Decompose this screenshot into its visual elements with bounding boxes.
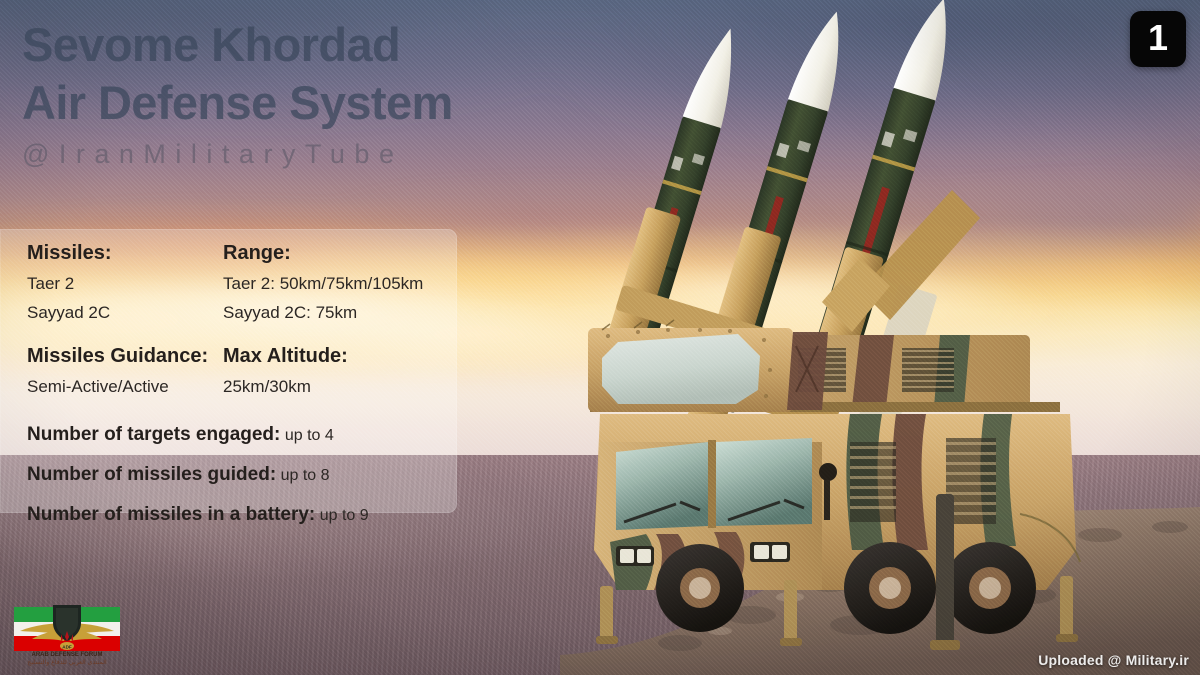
spec-value-targets-engaged: up to 4 bbox=[285, 427, 334, 444]
slide-number-badge: 1 bbox=[1130, 11, 1186, 67]
infographic-canvas: Sevome Khordad Air Defense System @IranM… bbox=[0, 0, 1200, 675]
mirror bbox=[819, 463, 837, 481]
spec-value-missiles-guided: up to 8 bbox=[281, 467, 330, 484]
spec-label-range: Range: bbox=[223, 238, 445, 269]
spec-row-missiles-guided: Number of missiles guided: up to 8 bbox=[27, 455, 445, 495]
spec-value-missile-2: Sayyad 2C bbox=[27, 298, 223, 327]
spec-value-missile-1: Taer 2 bbox=[27, 269, 223, 298]
spec-label-guidance: Missiles Guidance: bbox=[27, 341, 223, 372]
spec-value-range-2: Sayyad 2C: 75km bbox=[223, 298, 445, 327]
title-line-2: Air Defense System bbox=[22, 74, 453, 132]
spec-label-max-altitude: Max Altitude: bbox=[223, 341, 445, 372]
upload-watermark: Uploaded @ Military.ir bbox=[1038, 652, 1189, 668]
social-handle: @IranMilitaryTube bbox=[22, 135, 453, 173]
spec-row-targets-engaged: Number of targets engaged: up to 4 bbox=[27, 415, 445, 455]
spec-value-missiles-battery: up to 9 bbox=[320, 507, 369, 524]
spec-value-max-altitude: 25km/30km bbox=[223, 372, 445, 401]
spec-value-guidance: Semi-Active/Active bbox=[27, 372, 223, 401]
spec-key-targets-engaged: Number of targets engaged: bbox=[27, 424, 280, 445]
title-block: Sevome Khordad Air Defense System @IranM… bbox=[22, 16, 453, 173]
missile-launcher-vehicle bbox=[560, 0, 1200, 675]
slide-number-text: 1 bbox=[1148, 20, 1168, 56]
windshield bbox=[616, 438, 812, 530]
logo-name-ar: المنتدى العربي للدفاع والتسليح bbox=[27, 659, 107, 666]
logo-name-en: ARAB DEFENSE FORUM bbox=[31, 652, 102, 658]
spec-row-missiles-battery: Number of missiles in a battery: up to 9 bbox=[27, 495, 445, 535]
spec-group-missiles: Missiles: Taer 2 Sayyad 2C Range: Taer 2… bbox=[27, 238, 445, 327]
spec-group-guidance: Missiles Guidance: Semi-Active/Active Ma… bbox=[27, 341, 445, 401]
spec-key-missiles-guided: Number of missiles guided: bbox=[27, 464, 276, 485]
radar-dome-panel bbox=[602, 334, 760, 404]
spec-value-range-1: Taer 2: 50km/75km/105km bbox=[223, 269, 445, 298]
arab-defense-forum-logo: ADF ARAB DEFENSE FORUM المنتدى العربي لل… bbox=[8, 601, 126, 667]
title-line-1: Sevome Khordad bbox=[22, 16, 453, 74]
specifications-panel: Missiles: Taer 2 Sayyad 2C Range: Taer 2… bbox=[0, 229, 457, 513]
spec-label-missiles: Missiles: bbox=[27, 238, 223, 269]
svg-text:ADF: ADF bbox=[62, 644, 72, 649]
spec-key-missiles-battery: Number of missiles in a battery: bbox=[27, 504, 315, 525]
spec-spacer bbox=[27, 327, 445, 341]
radar-dome-assembly bbox=[588, 320, 793, 412]
bullets-spacer bbox=[27, 401, 445, 415]
